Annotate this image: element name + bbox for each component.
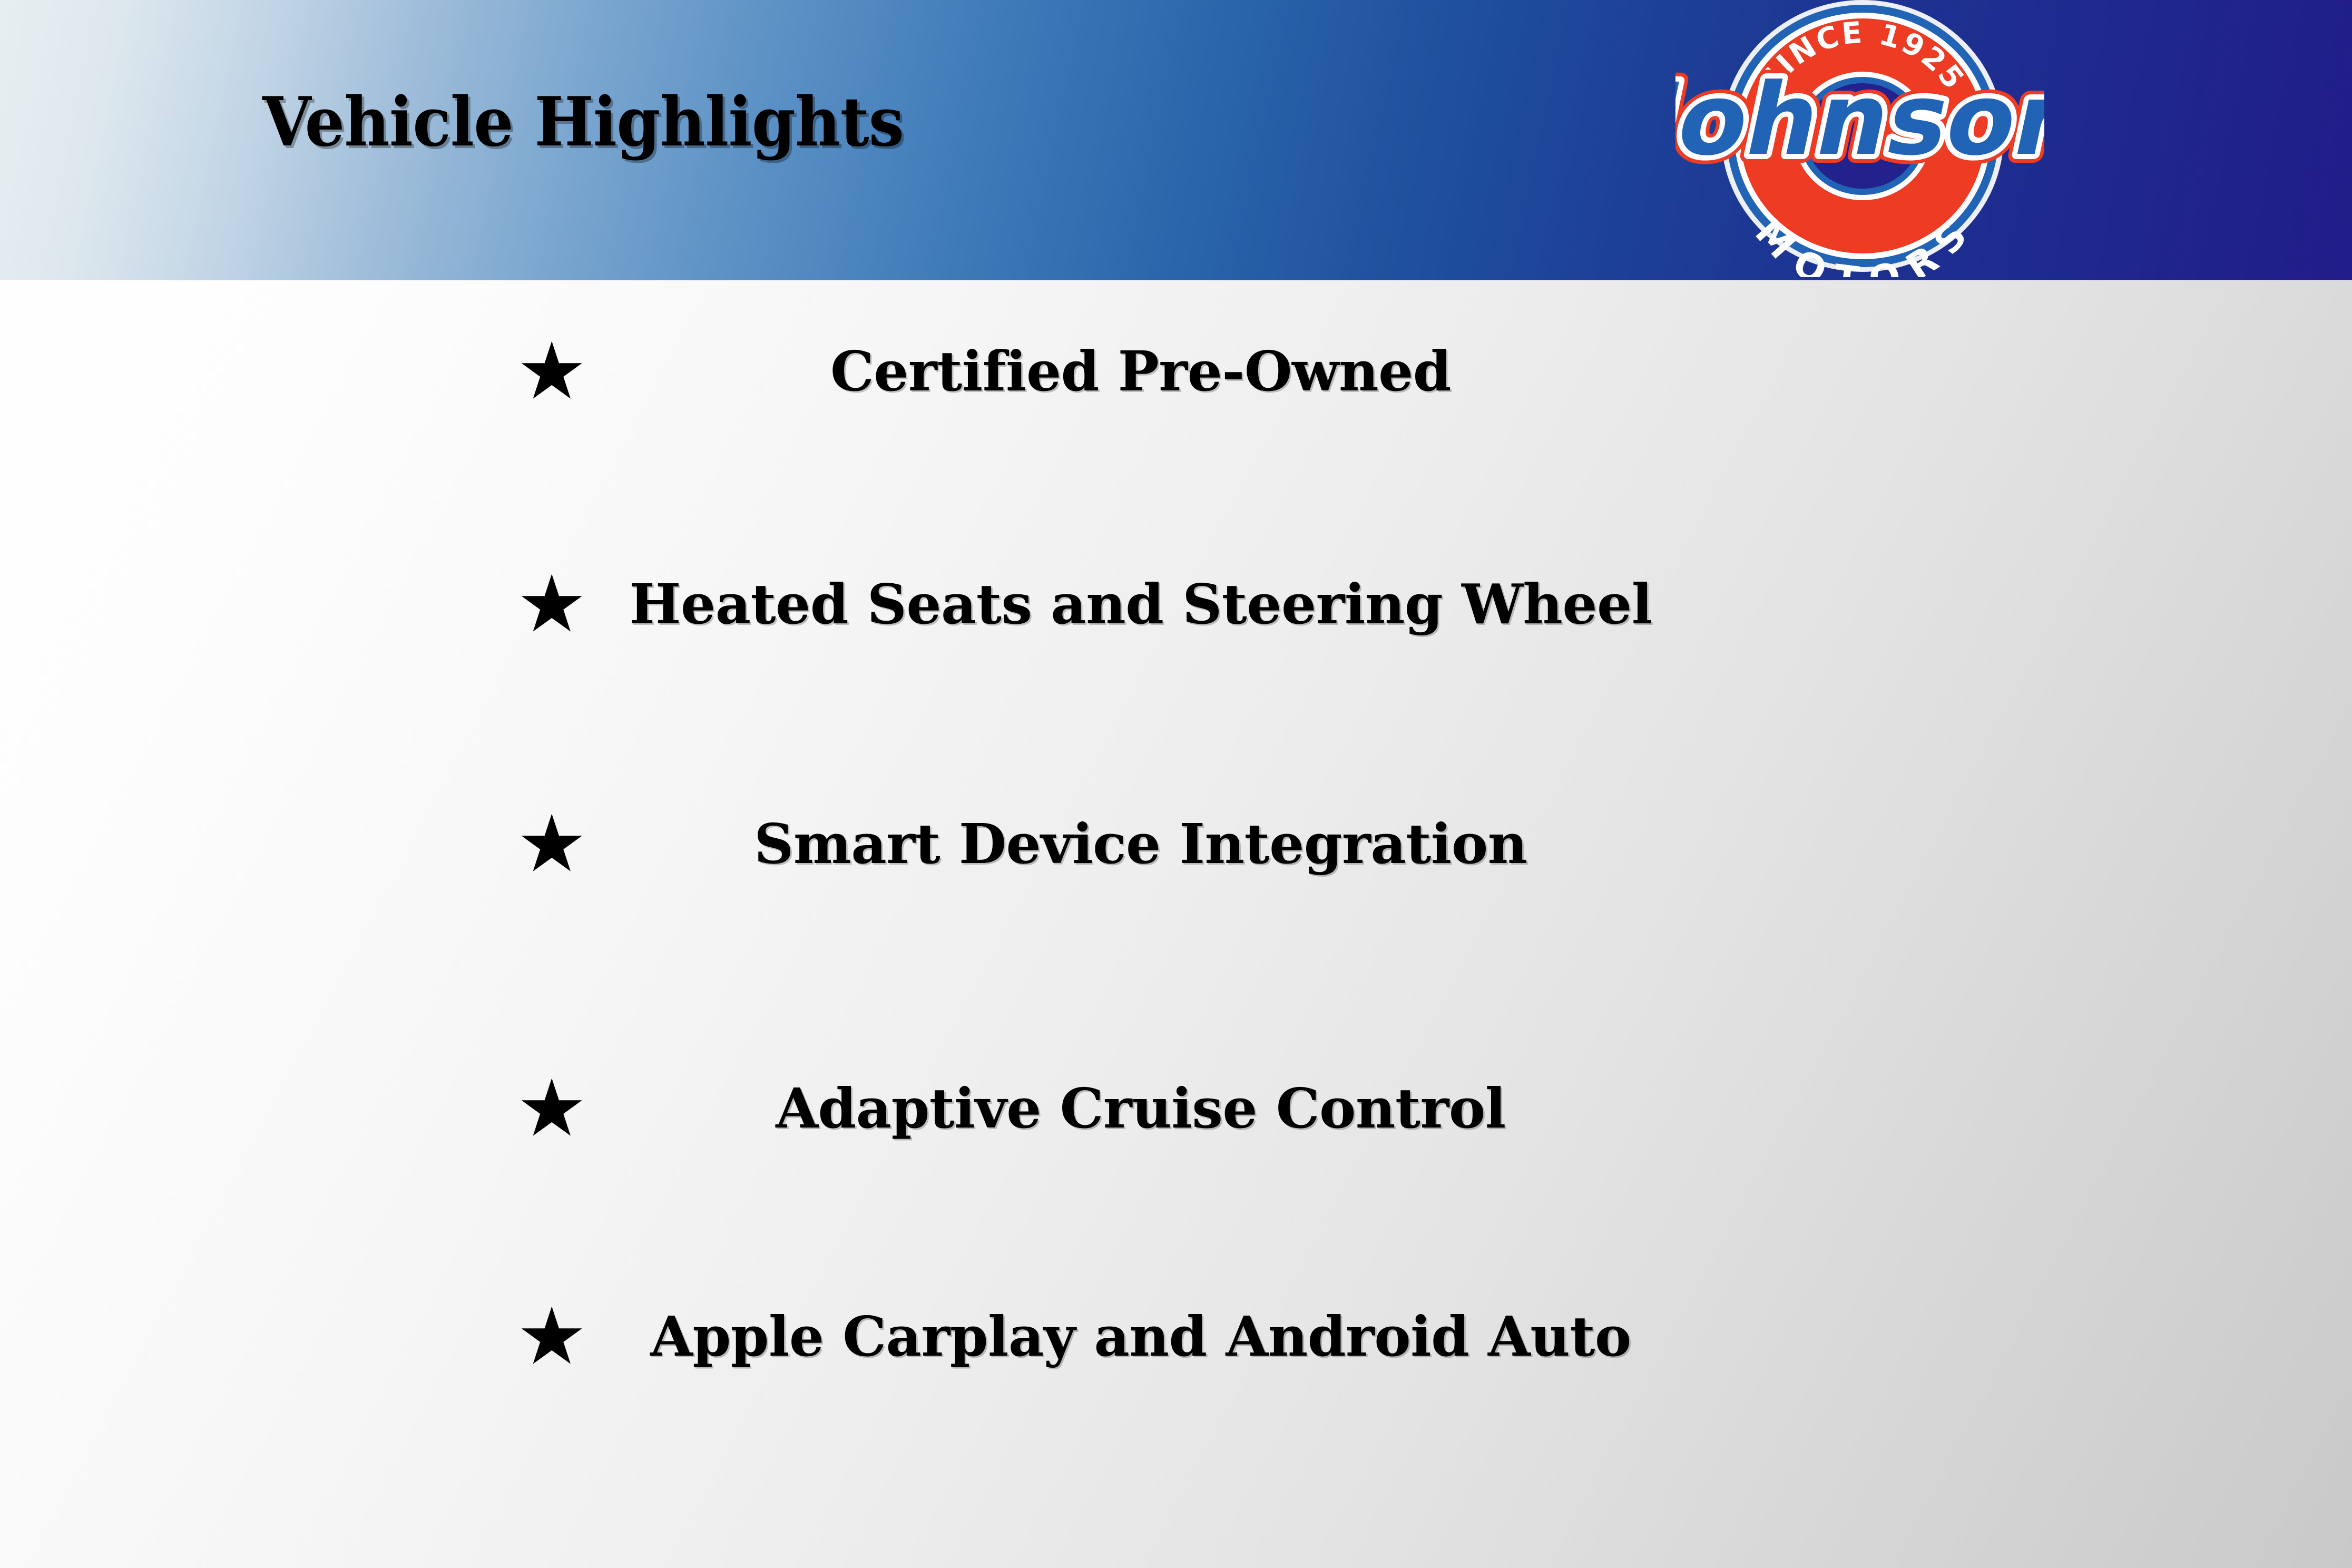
star-icon: ★: [516, 1069, 601, 1148]
highlights-list: ★ Certified Pre-Owned ★ Heated Seats and…: [0, 280, 2352, 1568]
highlight-label: Smart Device Integration: [601, 812, 1691, 876]
list-item: ★ Adaptive Cruise Control: [516, 1069, 1691, 1148]
johnson-motors-logo: SINCE 1925 SINCE 1925 MOTORS MOTORS John…: [1675, 0, 2044, 277]
logo-wordmark: Johnson Johnson Johnson: [1675, 62, 2044, 178]
highlight-label: Adaptive Cruise Control: [601, 1076, 1691, 1141]
list-item: ★ Certified Pre-Owned: [516, 332, 1691, 411]
star-icon: ★: [516, 805, 601, 884]
list-item: ★ Apple Carplay and Android Auto: [516, 1297, 1691, 1376]
slide-canvas: Vehicle Highlights SINCE 1925: [0, 0, 2352, 1568]
header-band-slope: [0, 250, 843, 281]
list-item: ★ Heated Seats and Steering Wheel: [516, 565, 1691, 644]
svg-text:Johnson: Johnson: [1675, 62, 2044, 178]
list-item: ★ Smart Device Integration: [516, 805, 1691, 884]
page-title: Vehicle Highlights: [262, 89, 904, 156]
star-icon: ★: [516, 332, 601, 411]
star-icon: ★: [516, 1297, 601, 1376]
highlight-label: Heated Seats and Steering Wheel: [601, 572, 1691, 636]
star-icon: ★: [516, 565, 601, 644]
highlight-label: Apple Carplay and Android Auto: [601, 1305, 1691, 1369]
highlight-label: Certified Pre-Owned: [601, 339, 1691, 404]
